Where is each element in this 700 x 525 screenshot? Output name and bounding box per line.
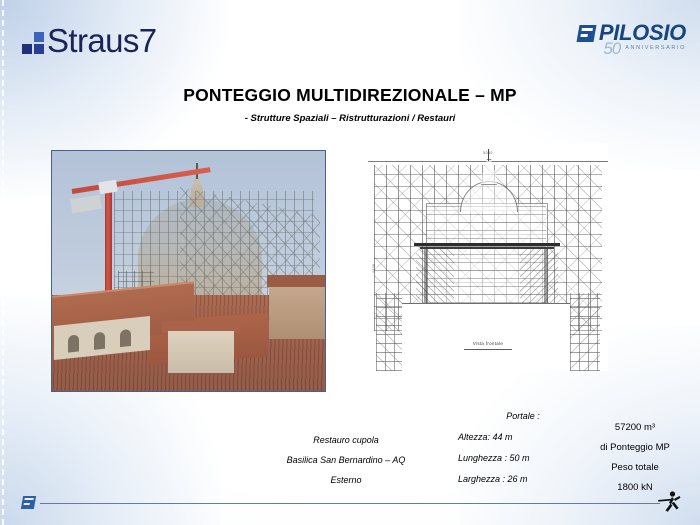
straus7-wordmark: Straus7 [47, 24, 157, 57]
drawing-pier-left [424, 247, 428, 305]
photo-shed [168, 331, 234, 373]
slide-subtitle: - Strutture Spaziali – Ristrutturazioni … [0, 113, 700, 124]
footer-pilosio-mark-icon [21, 496, 36, 509]
scaffolding-elevation-drawing: 5040 4400 Vista frontale [368, 143, 608, 371]
footer-rule [40, 503, 660, 504]
slide-title: PONTEGGIO MULTIDIREZIONALE – MP [0, 85, 700, 106]
portal-heading: Portale : [458, 406, 588, 427]
drawing-caption: Vista frontale [368, 341, 608, 346]
straus7-logo: Straus7 [22, 24, 157, 57]
drawing-portal-lintel [402, 303, 570, 304]
drawing-tower-left [376, 293, 402, 371]
caption-line: Basilica San Bernardino – AQ [236, 450, 456, 470]
scaffold-totals-block: 57200 m³ di Ponteggio MP Peso totale 180… [580, 418, 690, 498]
scaffold-volume: 57200 m³ [580, 418, 690, 438]
pilosio-fifty-label: 50 [603, 40, 620, 57]
photo-caption-block: Restauro cupola Basilica San Bernardino … [236, 430, 456, 490]
drawing-cornice-secondary [420, 247, 554, 249]
drawing-tower-right [570, 293, 600, 371]
footer-running-person-icon [658, 489, 682, 515]
photo-right-building [269, 283, 325, 339]
pilosio-mark-icon [576, 25, 596, 42]
drawing-portal-opening [402, 303, 570, 371]
portal-length: Lunghezza : 50 m [458, 448, 588, 469]
pilosio-anniversary-label: ANNIVERSARIO [625, 46, 686, 52]
pilosio-logo: PILOSIO 50 ANNIVERSARIO [578, 22, 686, 57]
photo-right-building-roof [267, 275, 326, 287]
drawing-pier-right [544, 247, 548, 305]
scaffold-weight-label: Peso totale [580, 458, 690, 478]
photo-window [94, 332, 105, 350]
drawing-caption-underline [464, 349, 512, 350]
scaffold-type: di Ponteggio MP [580, 438, 690, 458]
portal-height: Altezza: 44 m [458, 427, 588, 448]
photo-window [68, 334, 79, 352]
drawing-cornice [414, 243, 560, 246]
portal-dimensions-block: Portale : Altezza: 44 m Lunghezza : 50 m… [458, 406, 588, 490]
drawing-hatch-right [520, 249, 558, 303]
drawing-spire [488, 149, 489, 161]
portal-width: Larghezza : 26 m [458, 469, 588, 490]
presentation-slide: Straus7 PILOSIO 50 ANNIVERSARIO PONTEGGI… [0, 0, 700, 525]
drawing-hatch-left [416, 249, 454, 303]
caption-line: Restauro cupola [236, 430, 456, 450]
photo-window [120, 329, 131, 347]
straus7-squares-icon [22, 32, 44, 54]
basilica-dome-scaffolding-photo [51, 150, 326, 392]
caption-line: Esterno [236, 470, 456, 490]
left-edge-dashed-rule [2, 0, 4, 525]
